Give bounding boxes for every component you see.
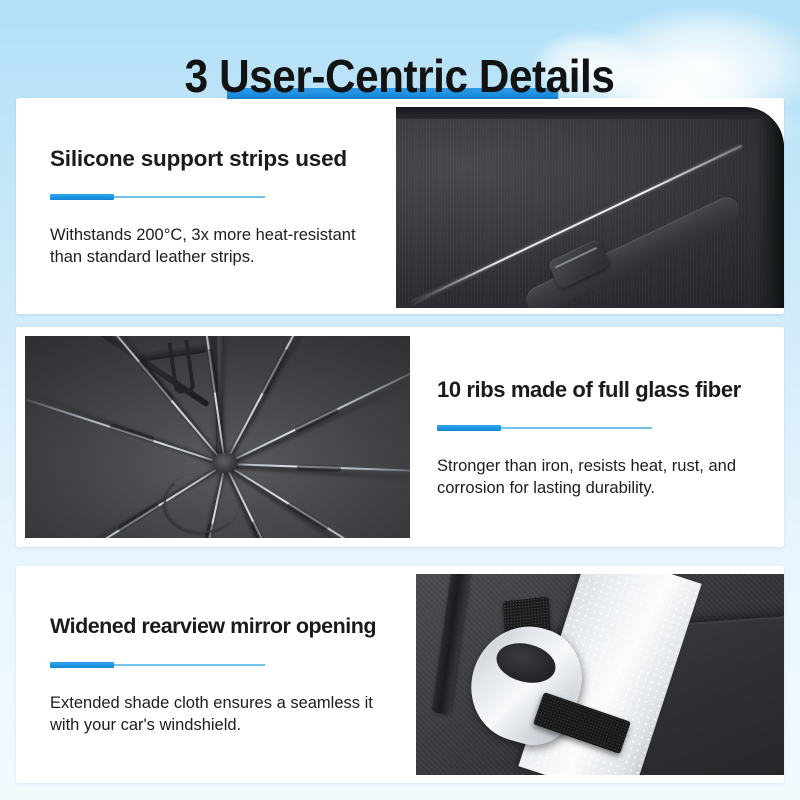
accent-divider [50, 194, 265, 200]
umbrella-strap-curve [164, 473, 240, 533]
feature-card: 10 ribs made of full glass fiber Stronge… [16, 327, 784, 547]
page-title-prefix: 3 [185, 50, 219, 102]
divider-thick-segment [437, 425, 501, 431]
shade-right-rim [756, 107, 784, 308]
page-title-container: 3 User-Centric Details [0, 18, 800, 134]
feature-card: Widened rearview mirror opening Extended… [16, 566, 784, 783]
feature-card-image [16, 327, 419, 547]
feature-card-body: Withstands 200°C, 3x more heat-resistant… [50, 224, 380, 268]
page-title-suffix: Details [468, 50, 615, 102]
divider-thick-segment [50, 194, 114, 200]
feature-card-heading: Widened rearview mirror opening [50, 613, 398, 640]
feature-card-text: Widened rearview mirror opening Extended… [16, 566, 408, 783]
umbrella-rib [224, 336, 331, 465]
divider-thick-segment [50, 662, 114, 668]
accent-divider [50, 662, 265, 668]
feature-card-image [408, 566, 784, 783]
accent-divider [437, 425, 652, 431]
sunshade-corner-photo [396, 107, 784, 308]
feature-card-body: Stronger than iron, resists heat, rust, … [437, 455, 774, 499]
page-title-highlight: User-Centric [220, 50, 468, 102]
umbrella-ribs-photo [25, 336, 410, 538]
feature-card-heading: 10 ribs made of full glass fiber [437, 376, 774, 403]
mirror-opening-photo [416, 574, 784, 775]
feature-card-text: 10 ribs made of full glass fiber Stronge… [419, 327, 784, 547]
page-title: 3 User-Centric Details [185, 49, 615, 103]
feature-card-body: Extended shade cloth ensures a seamless … [50, 692, 398, 736]
rib-shadow [223, 336, 331, 467]
feature-card-heading: Silicone support strips used [50, 145, 386, 172]
